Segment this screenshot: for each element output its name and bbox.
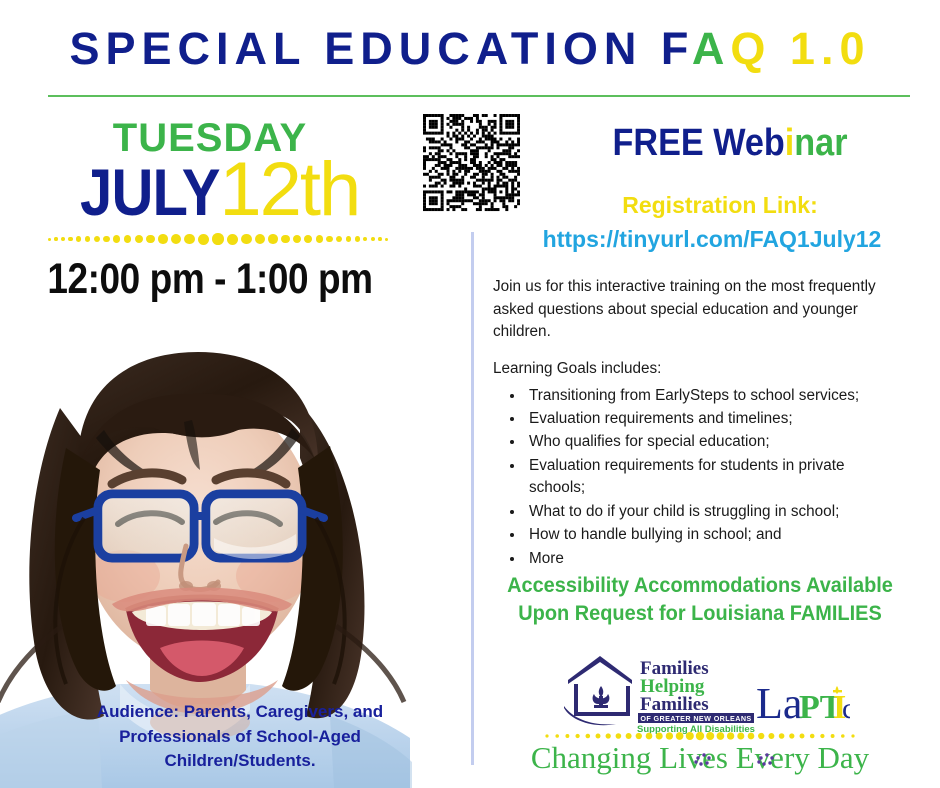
tagline-dotted-rule	[545, 732, 854, 740]
title-part-green: A	[692, 23, 731, 74]
free-webinar-heading: FREE Webinar	[541, 124, 919, 162]
laptic-part-4: c	[842, 692, 850, 725]
divider-dot	[68, 237, 73, 242]
event-month: JULY	[80, 159, 220, 225]
webinar-label-green: nar	[794, 122, 847, 164]
tagline-dot	[616, 733, 622, 739]
tagline-dot	[779, 733, 785, 739]
description-intro: Join us for this interactive training on…	[493, 276, 893, 344]
tagline-dot	[686, 732, 694, 740]
tagline-dot	[636, 733, 642, 739]
divider-dot	[113, 235, 120, 242]
registration-link[interactable]: https://tinyurl.com/FAQ1July12	[484, 226, 940, 253]
goals-lead: Learning Goals includes:	[493, 358, 893, 381]
dotted-divider	[48, 232, 388, 246]
webinar-label-yellow: i	[785, 122, 795, 164]
goal-item: Evaluation requirements and timelines;	[525, 408, 893, 431]
divider-dot	[363, 237, 368, 242]
divider-dot	[76, 236, 81, 241]
tagline-dot	[596, 734, 601, 739]
tagline-dot	[545, 734, 548, 737]
flyer-canvas: SPECIAL EDUCATION FAQ 1.0 TUESDAY JULY12…	[0, 0, 940, 788]
divider-dot	[54, 237, 58, 241]
divider-dot	[241, 234, 251, 244]
tagline-dot	[565, 734, 569, 738]
tagline-dot	[606, 733, 611, 738]
goal-item: How to handle bullying in school; and	[525, 524, 893, 547]
divider-dot	[227, 234, 238, 245]
divider-dot	[355, 236, 360, 241]
tagline-dot	[727, 732, 734, 739]
tagline-dot	[666, 732, 673, 739]
tagline-dot	[555, 734, 559, 738]
tagline-dot	[676, 732, 684, 740]
divider-dot	[281, 235, 290, 244]
divider-dot	[94, 236, 100, 242]
divider-dot	[48, 238, 51, 241]
divider-dot	[158, 234, 167, 243]
tagline-block: Changing Lives Every Day	[525, 728, 875, 778]
tagline-dot	[586, 734, 591, 739]
audience-note: Audience: Parents, Caregivers, and Profe…	[45, 700, 435, 774]
tagline-dot	[717, 732, 725, 740]
goal-item: More	[525, 548, 893, 571]
tagline-dot	[758, 733, 764, 739]
tagline-dot	[768, 733, 774, 739]
divider-dot	[146, 235, 155, 244]
goals-list: Transitioning from EarlySteps to school …	[515, 385, 893, 572]
registration-label: Registration Link:	[500, 192, 940, 219]
event-time: 12:00 pm - 1:00 pm	[29, 255, 390, 304]
divider-dot	[184, 234, 194, 244]
page-title: SPECIAL EDUCATION FAQ 1.0	[0, 26, 940, 71]
accessibility-note: Accessibility Accommodations Available U…	[491, 572, 909, 629]
title-divider-rule	[48, 95, 910, 97]
divider-dot	[316, 235, 323, 242]
column-divider	[471, 232, 474, 765]
tagline-dot	[789, 733, 794, 738]
tagline-dot	[810, 734, 815, 739]
tagline-dot	[851, 734, 854, 737]
divider-dot	[198, 234, 209, 245]
fhf-house-icon	[564, 656, 632, 725]
divider-dot	[103, 236, 110, 243]
partner-logos: Families Helping Families OF GREATER NEW…	[560, 650, 850, 735]
event-date: JULY12th	[0, 152, 420, 228]
tagline-dot	[575, 734, 579, 738]
goal-item: Transitioning from EarlySteps to school …	[525, 385, 893, 408]
goal-item: Who qualifies for special education;	[525, 431, 893, 454]
event-day: 12th	[219, 147, 359, 232]
fhf-line-3: Families	[640, 694, 709, 715]
divider-dot	[336, 236, 342, 242]
tagline-dot	[831, 734, 835, 738]
webinar-label-navy: FREE Web	[612, 122, 784, 164]
tagline-text: Changing Lives Every Day	[531, 740, 870, 775]
divider-dot	[304, 235, 312, 243]
divider-dot	[212, 233, 224, 245]
goal-item: What to do if your child is struggling i…	[525, 501, 893, 524]
fhf-line-4: OF GREATER NEW ORLEANS	[640, 714, 751, 723]
divider-dot	[255, 234, 265, 244]
tagline-dot	[706, 732, 714, 740]
divider-dot	[135, 235, 143, 243]
tagline-dot	[626, 733, 632, 739]
divider-dot	[371, 237, 375, 241]
divider-dot	[124, 235, 132, 243]
tagline-dot	[656, 732, 663, 739]
divider-dot	[268, 234, 277, 243]
divider-dot	[346, 236, 352, 242]
title-part-navy: SPECIAL EDUCATION F	[70, 23, 692, 74]
tagline-dot	[646, 733, 653, 740]
laptic-part-1: La	[756, 679, 802, 728]
tagline-dot	[737, 732, 744, 739]
tagline-dot	[800, 734, 805, 739]
goal-item: Evaluation requirements for students in …	[525, 455, 893, 501]
divider-dot	[171, 234, 181, 244]
divider-dot	[378, 237, 382, 241]
tagline-dot	[696, 732, 704, 740]
accessibility-line-1: Accessibility Accommodations Available	[491, 572, 909, 600]
divider-dot	[61, 237, 65, 241]
tagline-dot	[841, 734, 845, 738]
tagline-dot	[820, 734, 824, 738]
divider-dot	[293, 235, 301, 243]
tagline-dot	[748, 733, 755, 740]
divider-dot	[326, 236, 333, 243]
laptic-wordmark: La PT I c	[756, 679, 850, 728]
title-part-yellow: Q 1.0	[730, 23, 870, 74]
divider-dot	[85, 236, 91, 242]
divider-dot	[385, 238, 388, 241]
accessibility-line-2: Upon Request for Louisiana FAMILIES	[491, 600, 909, 628]
description-block: Join us for this interactive training on…	[493, 276, 893, 571]
